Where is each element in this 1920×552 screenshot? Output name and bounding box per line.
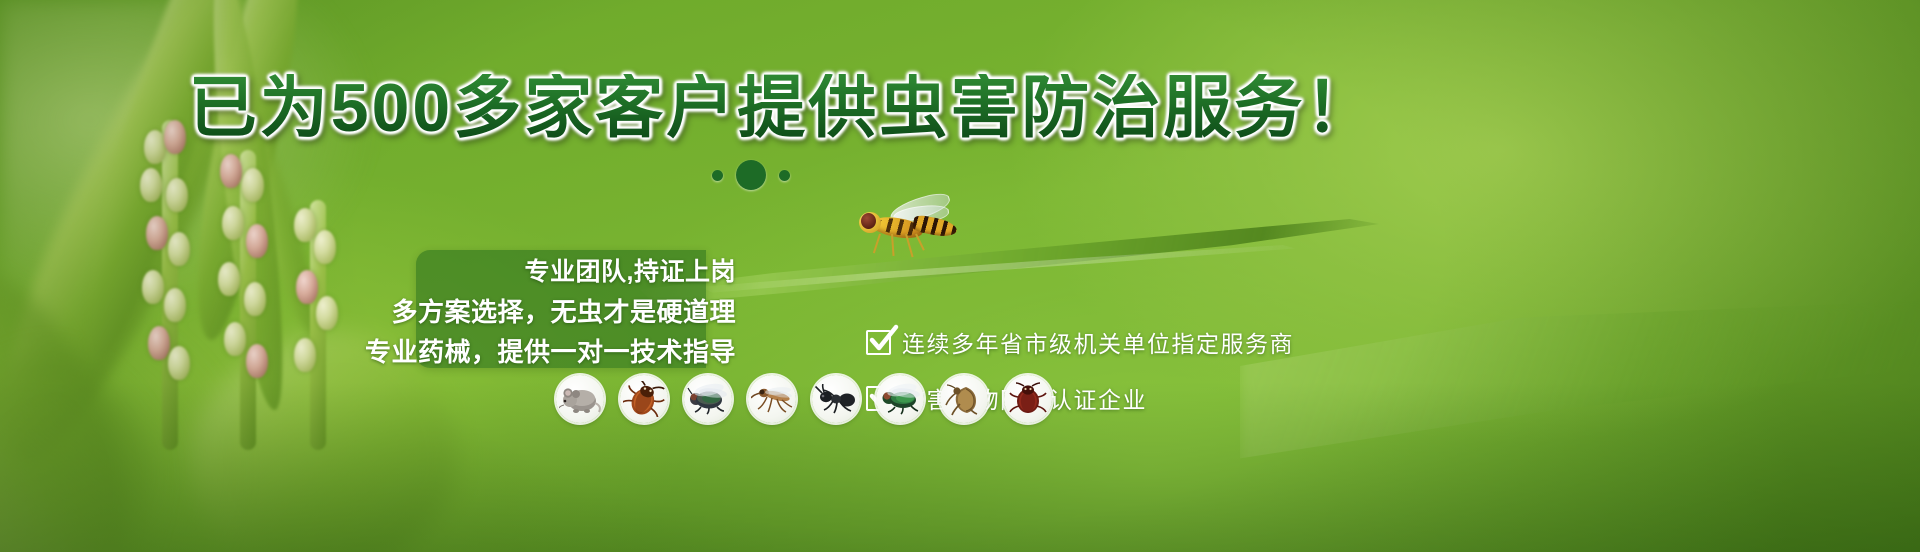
dot-big-center-icon bbox=[736, 160, 766, 190]
ant-icon[interactable] bbox=[812, 375, 860, 423]
housefly-icon[interactable] bbox=[684, 375, 732, 423]
blowfly-icon[interactable] bbox=[876, 375, 924, 423]
hoverfly-illustration-icon bbox=[845, 196, 965, 258]
mouse-icon[interactable] bbox=[556, 375, 604, 423]
pest-control-hero-banner: 已为500多家客户提供虫害防治服务！ 专业团队,持证上岗 多方案选择，无虫才是硬… bbox=[0, 0, 1920, 552]
banner-headline: 已为500多家客户提供虫害防治服务！ bbox=[0, 74, 1565, 142]
features-panel-text: 专业团队,持证上岗 多方案选择，无虫才是硬道理 专业药械，提供一对一技术指导 bbox=[330, 248, 750, 373]
panel-line-3: 专业药械，提供一对一技术指导 bbox=[365, 339, 736, 365]
dot-small-right-icon bbox=[779, 170, 790, 181]
flea-icon[interactable] bbox=[940, 375, 988, 423]
list-item: 连续多年省市级机关单位指定服务商 bbox=[866, 325, 1486, 359]
dot-small-left-icon bbox=[712, 170, 723, 181]
credential-label: 连续多年省市级机关单位指定服务商 bbox=[902, 325, 1294, 359]
mosquito-icon[interactable] bbox=[748, 375, 796, 423]
checkbox-checked-icon bbox=[866, 330, 891, 355]
pest-icon-row bbox=[556, 375, 1052, 423]
panel-line-1: 专业团队,持证上岗 bbox=[525, 260, 736, 285]
bedbug-icon[interactable] bbox=[1004, 375, 1052, 423]
cockroach-icon[interactable] bbox=[620, 375, 668, 423]
decorative-dots bbox=[712, 160, 790, 190]
panel-line-2: 多方案选择，无虫才是硬道理 bbox=[391, 299, 736, 325]
